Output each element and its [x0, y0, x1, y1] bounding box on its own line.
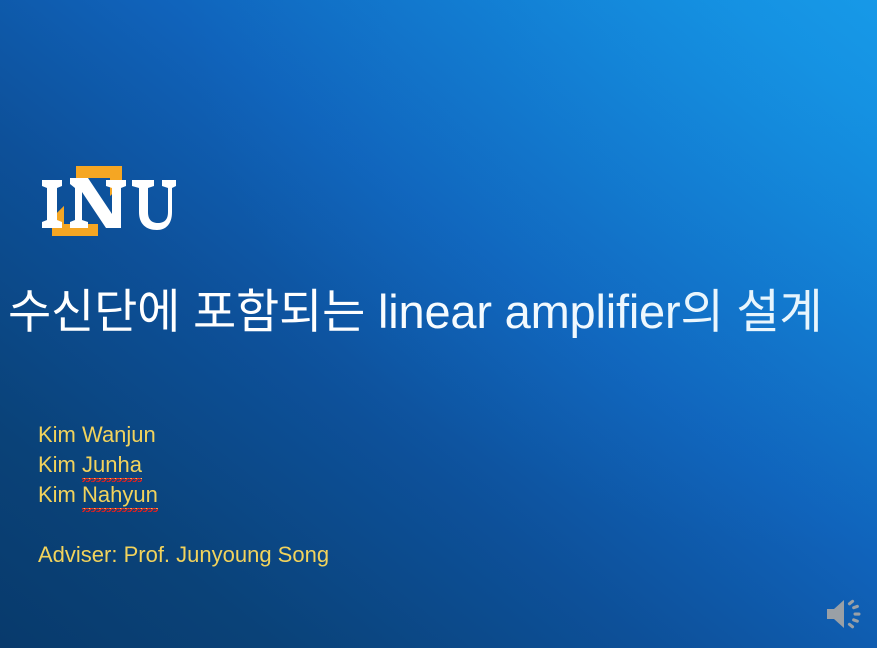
author-list: Kim Wanjun Kim Junha Kim Nahyun	[38, 420, 638, 510]
sound-wave-dashes	[847, 599, 860, 629]
author-surname: Wanjun	[82, 422, 156, 447]
author-prefix: Kim	[38, 452, 82, 477]
author-surname-misspelled: Junha	[82, 450, 142, 480]
adviser-line: Adviser: Prof. Junyoung Song	[38, 540, 329, 570]
slide-title: 수신단에 포함되는 linear amplifier의 설계	[8, 284, 870, 339]
speaker-audio-icon[interactable]	[822, 592, 866, 636]
inu-university-logo	[36, 162, 176, 240]
presentation-slide: 수신단에 포함되는 linear amplifier의 설계 Kim Wanju…	[0, 0, 877, 648]
author-prefix: Kim	[38, 482, 82, 507]
list-item: Kim Junha	[38, 450, 638, 480]
author-prefix: Kim	[38, 422, 82, 447]
list-item: Kim Nahyun	[38, 480, 638, 510]
author-surname-misspelled: Nahyun	[82, 480, 158, 510]
list-item: Kim Wanjun	[38, 420, 638, 450]
